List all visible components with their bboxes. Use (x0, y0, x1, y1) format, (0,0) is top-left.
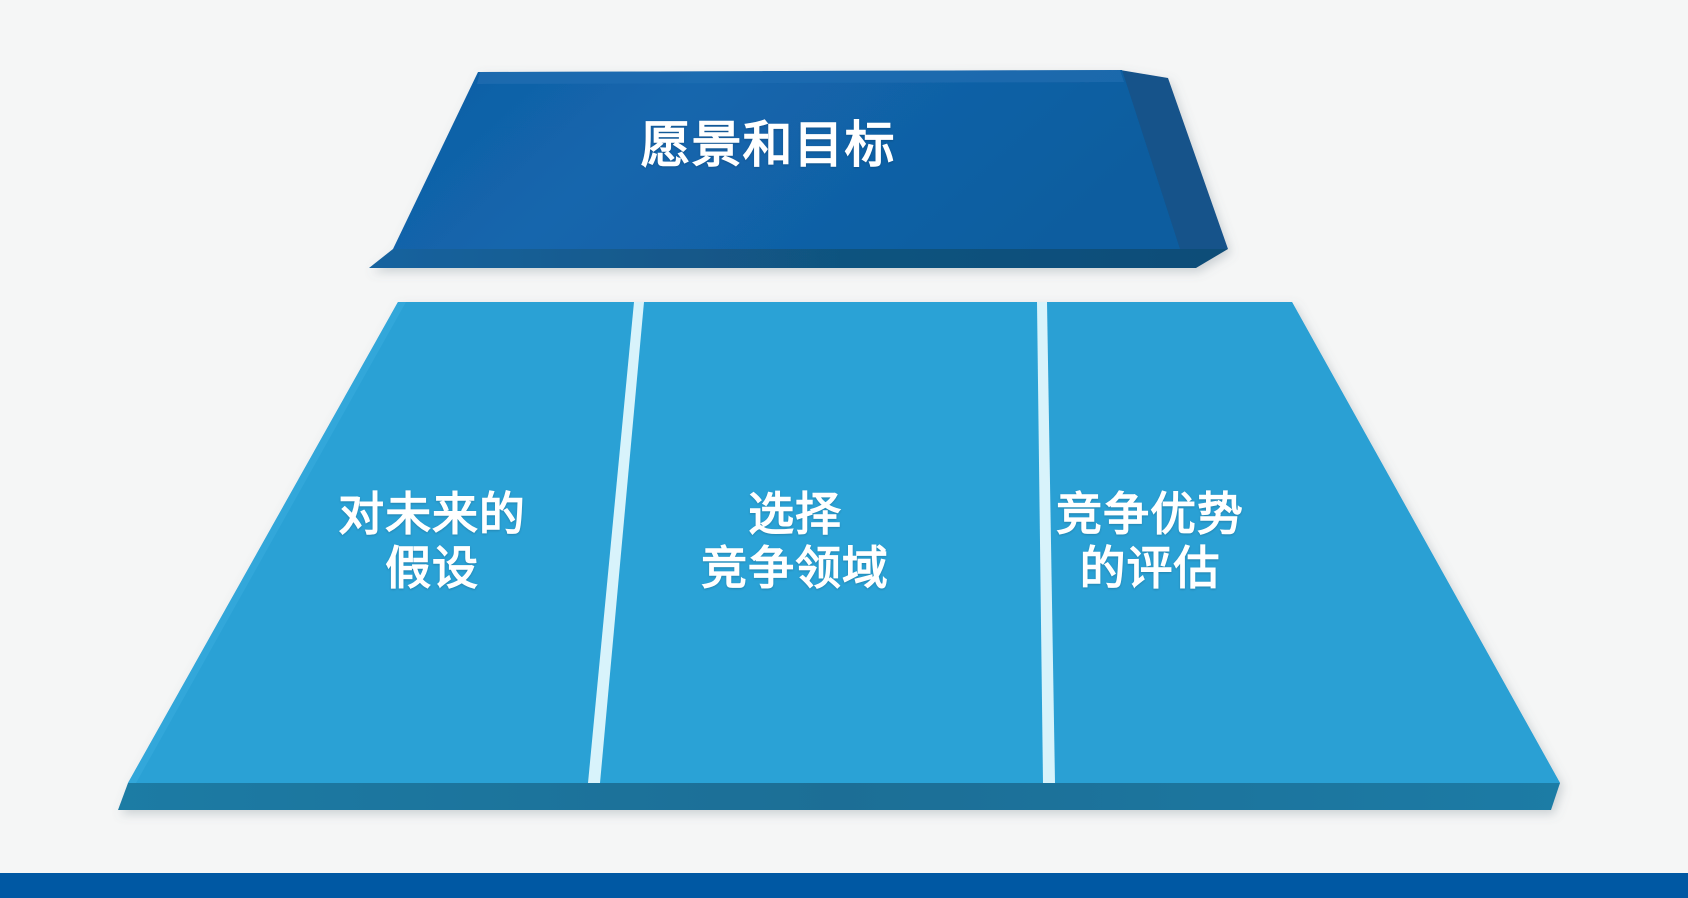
base-block-choose-competitive-arena[interactable] (645, 300, 1035, 780)
base-block-assumptions-about-the-future[interactable] (150, 300, 630, 780)
top-block-vision-and-goals[interactable] (400, 70, 1220, 260)
base-trapezoid-bottom-edge (118, 783, 1560, 810)
footer-accent-bar (0, 873, 1688, 898)
slide-canvas: 愿景和目标 对未来的 假设 选择 竞争领域 竞争优势 的评估 (0, 0, 1688, 898)
base-block-competitive-advantage-assessment[interactable] (1050, 300, 1550, 780)
